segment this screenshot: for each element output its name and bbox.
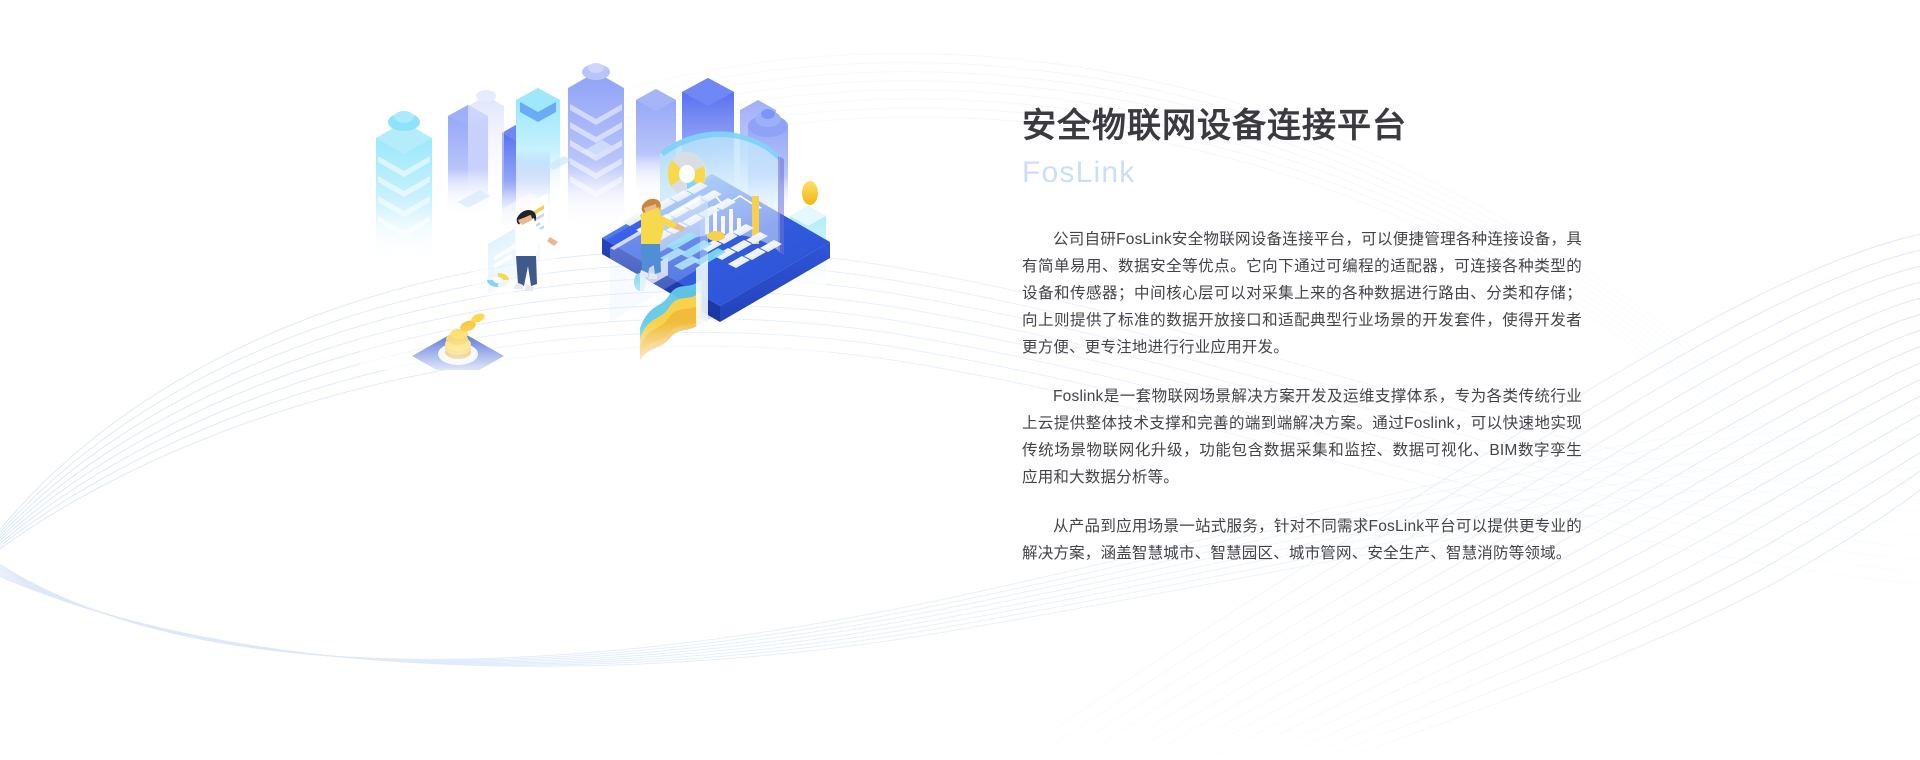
- paragraph-1: 公司自研FosLink安全物联网设备连接平台，可以便捷管理各种连接设备，具有简单…: [1022, 226, 1582, 361]
- body-copy: 公司自研FosLink安全物联网设备连接平台，可以便捷管理各种连接设备，具有简单…: [1022, 226, 1582, 567]
- building-cyan: [516, 88, 560, 212]
- product-name-subtitle: FosLink: [1022, 153, 1582, 192]
- hero-text-column: 安全物联网设备连接平台 FosLink 公司自研FosLink安全物联网设备连接…: [1022, 106, 1582, 567]
- building-ghost: [468, 90, 504, 198]
- background-wave-lines: [0, 0, 1920, 760]
- hero-illustration: [360, 60, 830, 370]
- coin-icon: [802, 181, 818, 205]
- page-title: 安全物联网设备连接平台: [1022, 106, 1582, 147]
- yellow-pill-accent: [707, 231, 725, 241]
- paragraph-3: 从产品到应用场景一站式服务，针对不同需求FosLink平台可以提供更专业的解决方…: [1022, 513, 1582, 567]
- paragraph-2: Foslink是一套物联网场景解决方案开发及运维支撑体系，专为各类传统行业上云提…: [1022, 383, 1582, 491]
- isometric-platform-illustration: [360, 60, 830, 370]
- building-layered-left: [376, 111, 432, 272]
- page-root: 安全物联网设备连接平台 FosLink 公司自研FosLink安全物联网设备连接…: [0, 0, 1920, 760]
- mini-donut-chart: [487, 273, 509, 287]
